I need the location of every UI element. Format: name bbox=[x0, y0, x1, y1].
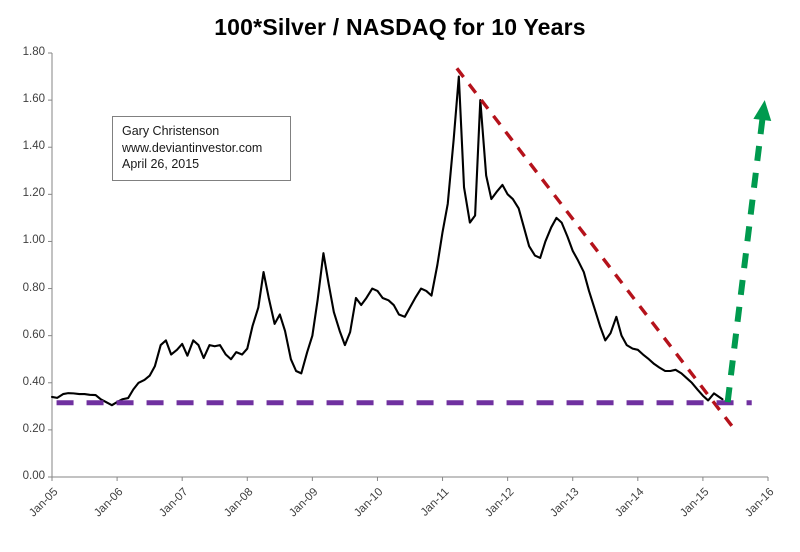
author-credit-box: Gary Christenson www.deviantinvestor.com… bbox=[112, 116, 291, 181]
y-tick-label: 1.40 bbox=[5, 140, 45, 152]
y-tick-label: 1.00 bbox=[5, 234, 45, 246]
y-tick-label: 0.40 bbox=[5, 376, 45, 388]
y-tick-label: 1.20 bbox=[5, 187, 45, 199]
author-website: www.deviantinvestor.com bbox=[122, 140, 262, 157]
chart-date: April 26, 2015 bbox=[122, 156, 262, 173]
y-tick-label: 0.60 bbox=[5, 329, 45, 341]
y-tick-label: 0.00 bbox=[5, 470, 45, 482]
chart-container: 100*Silver / NASDAQ for 10 Years 0.000.2… bbox=[0, 0, 800, 552]
author-name: Gary Christenson bbox=[122, 123, 262, 140]
y-tick-label: 1.80 bbox=[5, 46, 45, 58]
y-tick-label: 0.20 bbox=[5, 423, 45, 435]
y-tick-label: 1.60 bbox=[5, 93, 45, 105]
y-tick-label: 0.80 bbox=[5, 282, 45, 294]
plot-area bbox=[0, 0, 800, 552]
